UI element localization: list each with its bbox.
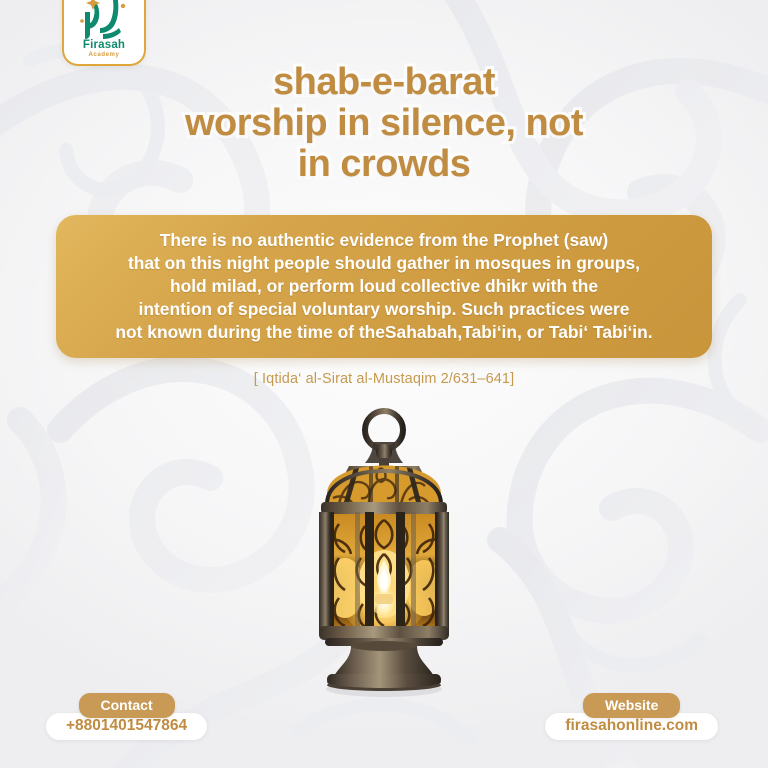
title-line-3: in crowds bbox=[0, 144, 768, 185]
logo-submark: Academy bbox=[89, 52, 120, 58]
citation-reference: [ Iqtida‘ al-Sirat al-Mustaqim 2/631–641… bbox=[0, 371, 768, 387]
arabic-calligraphy-icon bbox=[73, 0, 135, 42]
website-label: Website bbox=[583, 693, 680, 718]
quote-panel: There is no authentic evidence from the … bbox=[56, 215, 712, 358]
contact-block: Contact +8801401547864 bbox=[46, 693, 207, 740]
poster-canvas: Firasah Academy shab-e-barat worship in … bbox=[0, 0, 768, 768]
contact-label: Contact bbox=[79, 693, 175, 718]
title-line-1: shab-e-barat bbox=[0, 62, 768, 103]
logo-wordmark: Firasah bbox=[83, 40, 125, 52]
quote-body: There is no authentic evidence from the … bbox=[115, 229, 652, 345]
ramadan-lantern-icon bbox=[269, 408, 499, 703]
title-line-2: worship in silence, not bbox=[0, 103, 768, 144]
page-title: shab-e-barat worship in silence, not in … bbox=[0, 62, 768, 185]
website-block: Website firasahonline.com bbox=[545, 693, 718, 740]
brand-logo-card[interactable]: Firasah Academy bbox=[62, 0, 146, 66]
